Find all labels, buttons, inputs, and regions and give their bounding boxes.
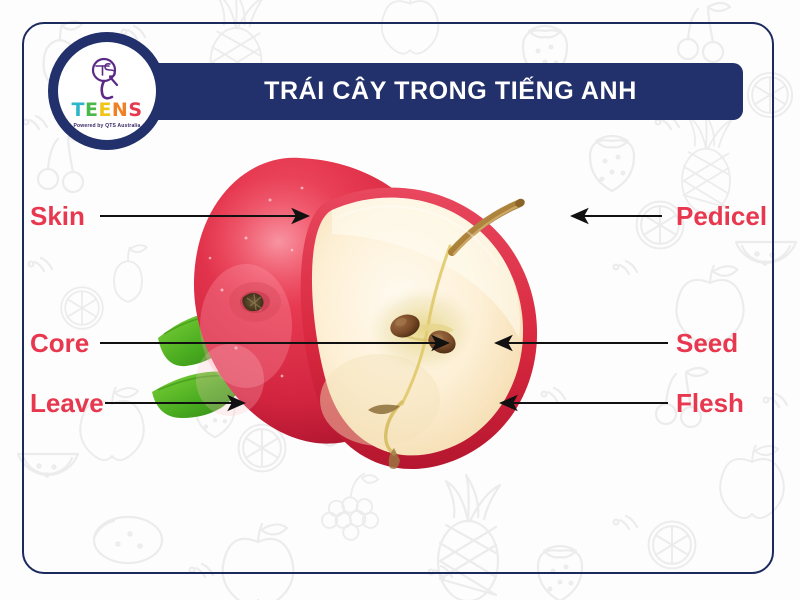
apple-illustration: [150, 130, 610, 500]
qts-monogram-icon: [84, 56, 130, 100]
logo-tagline: Powered by QTS Australia: [73, 123, 140, 129]
logo-brand-text: TEENS: [71, 101, 142, 120]
header-banner: TRÁI CÂY TRONG TIẾNG ANH: [118, 63, 743, 120]
apple-half-cut: [301, 188, 537, 469]
page-title: TRÁI CÂY TRONG TIẾNG ANH: [224, 77, 637, 106]
callout-label-pedicel: Pedicel: [676, 203, 767, 229]
callout-label-core: Core: [30, 330, 89, 356]
logo-letter-4: S: [128, 101, 142, 120]
brand-logo[interactable]: TEENS Powered by QTS Australia: [48, 32, 166, 150]
callout-label-seed: Seed: [676, 330, 738, 356]
logo-letter-2: E: [98, 101, 111, 120]
callout-label-skin: Skin: [30, 203, 85, 229]
apple-calyx: [229, 282, 281, 322]
logo-letter-1: E: [85, 101, 98, 120]
logo-letter-0: T: [71, 101, 84, 120]
logo-inner-circle: TEENS Powered by QTS Australia: [58, 42, 156, 140]
callout-label-leave: Leave: [30, 390, 104, 416]
poster-canvas: TRÁI CÂY TRONG TIẾNG ANH TEENS Powered b…: [0, 0, 800, 600]
callout-label-flesh: Flesh: [676, 390, 744, 416]
logo-letter-3: N: [112, 101, 128, 120]
